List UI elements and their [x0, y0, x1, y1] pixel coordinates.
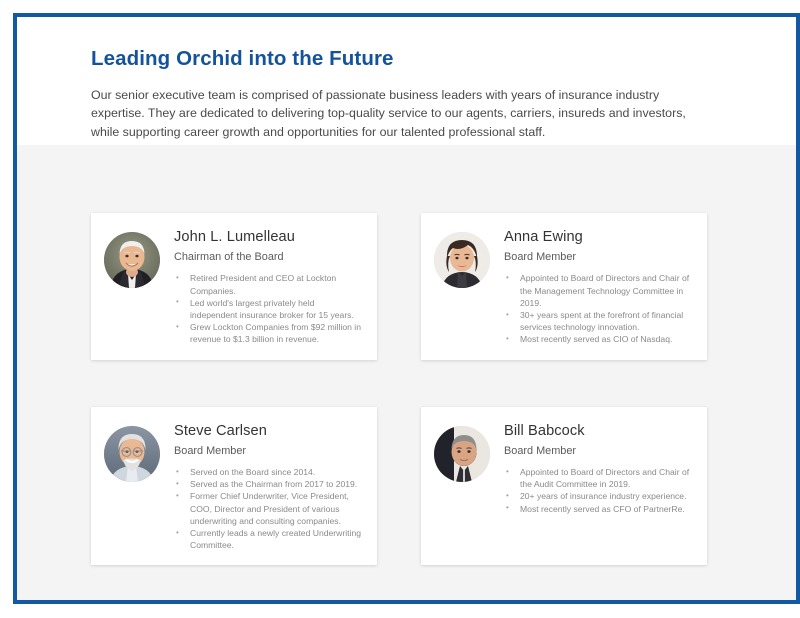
member-role: Chairman of the Board [174, 250, 363, 264]
portrait-photo-john-lumelleau-icon [104, 232, 160, 288]
member-info: John L. Lumelleau Chairman of the Board … [174, 226, 363, 346]
list-item: Served on the Board since 2014. [174, 466, 363, 478]
member-name: John L. Lumelleau [174, 228, 363, 246]
page-content: Leading Orchid into the Future Our senio… [17, 17, 796, 600]
member-card: Anna Ewing Board Member Appointed to Boa… [421, 213, 707, 360]
list-item: Currently leads a newly created Underwri… [174, 527, 363, 551]
member-role: Board Member [504, 250, 693, 264]
team-section: John L. Lumelleau Chairman of the Board … [17, 145, 796, 600]
framed-page: Leading Orchid into the Future Our senio… [13, 13, 800, 604]
member-card: John L. Lumelleau Chairman of the Board … [91, 213, 377, 360]
portrait-photo-steve-carlsen-icon [104, 426, 160, 482]
list-item: 30+ years spent at the forefront of fina… [504, 309, 693, 333]
list-item: Served as the Chairman from 2017 to 2019… [174, 478, 363, 490]
member-bullet-list: Appointed to Board of Directors and Chai… [504, 466, 693, 515]
portrait-photo-anna-ewing-icon [434, 232, 490, 288]
member-bullet-list: Retired President and CEO at Lockton Com… [174, 272, 363, 345]
intro-paragraph: Our senior executive team is comprised o… [91, 86, 716, 143]
list-item: Led world's largest privately held indep… [174, 297, 363, 321]
member-card: Bill Babcock Board Member Appointed to B… [421, 407, 707, 566]
member-info: Bill Babcock Board Member Appointed to B… [504, 420, 693, 515]
member-info: Anna Ewing Board Member Appointed to Boa… [504, 226, 693, 346]
team-card-grid: John L. Lumelleau Chairman of the Board … [91, 213, 711, 565]
list-item: Most recently served as CIO of Nasdaq. [504, 333, 693, 345]
list-item: 20+ years of insurance industry experien… [504, 490, 693, 502]
member-info: Steve Carlsen Board Member Served on the… [174, 420, 363, 552]
member-role: Board Member [174, 444, 363, 458]
member-bullet-list: Served on the Board since 2014. Served a… [174, 466, 363, 551]
list-item: Grew Lockton Companies from $92 million … [174, 321, 363, 345]
page-title: Leading Orchid into the Future [91, 47, 730, 72]
member-name: Anna Ewing [504, 228, 693, 246]
member-name: Steve Carlsen [174, 422, 363, 440]
list-item: Appointed to Board of Directors and Chai… [504, 272, 693, 309]
intro-section: Leading Orchid into the Future Our senio… [17, 17, 796, 145]
portrait-photo-bill-babcock-icon [434, 426, 490, 482]
list-item: Retired President and CEO at Lockton Com… [174, 272, 363, 296]
list-item: Former Chief Underwriter, Vice President… [174, 490, 363, 527]
member-name: Bill Babcock [504, 422, 693, 440]
member-card: Steve Carlsen Board Member Served on the… [91, 407, 377, 566]
list-item: Most recently served as CFO of PartnerRe… [504, 503, 693, 515]
member-bullet-list: Appointed to Board of Directors and Chai… [504, 272, 693, 345]
member-role: Board Member [504, 444, 693, 458]
list-item: Appointed to Board of Directors and Chai… [504, 466, 693, 490]
